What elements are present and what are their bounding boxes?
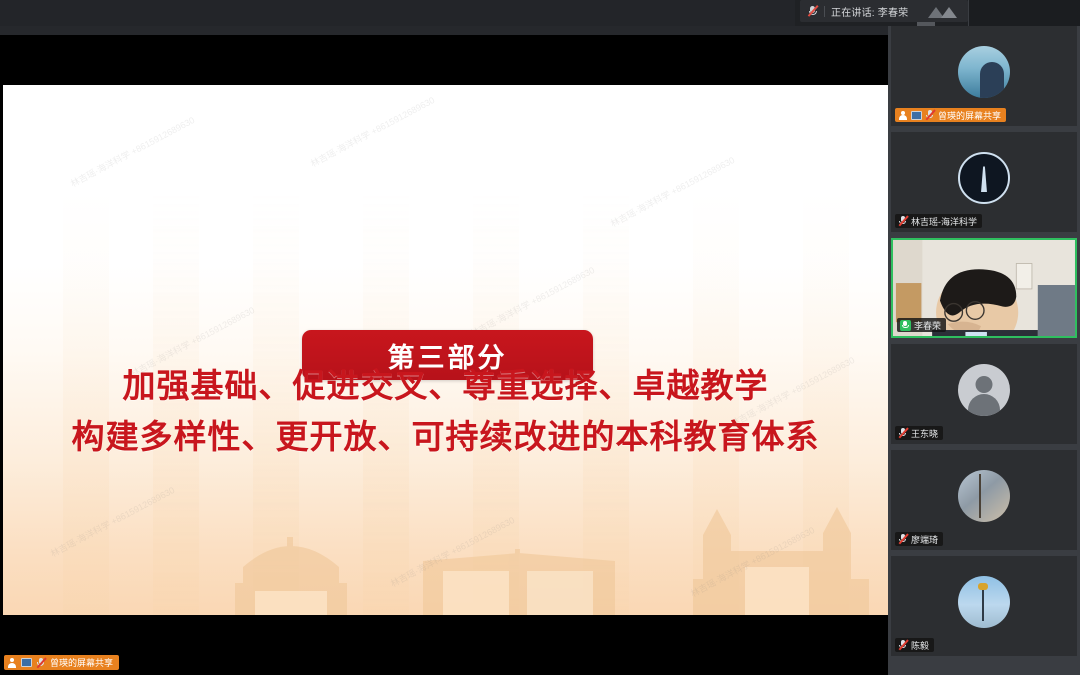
watermark-text: 林吉瑶·海洋科学 +8615912689630 [68,113,197,190]
participant-tile[interactable]: 林吉瑶-海洋科学 [891,132,1077,232]
watermark-text: 林吉瑶·海洋科学 +8615912689630 [608,153,737,230]
campus-buildings-illustration [3,475,888,615]
mic-muted-icon [36,657,46,668]
watermark-text: 林吉瑶·海洋科学 +8615912689630 [468,263,597,340]
participant-label: 李春荣 [897,318,946,332]
share-top-strip [0,26,888,35]
screen-share-icon [911,111,922,120]
participant-label: 陈毅 [895,638,934,652]
participant-name: 李春荣 [914,319,941,332]
participant-label: 廖端琦 [895,532,943,546]
meeting-window: 正在讲话: 李春荣 [0,0,1080,675]
participant-name: 陈毅 [911,639,929,652]
slide-headline: 加强基础、促进交叉、尊重选择、卓越教学 构建多样性、更开放、可持续改进的本科教育… [3,360,888,462]
participant-tile[interactable]: 廖端琦 [891,450,1077,550]
mic-muted-icon [898,640,908,651]
speaking-indicator: 正在讲话: 李春荣 [800,0,968,22]
audio-wave-icon [928,5,962,18]
participant-label: 王东晓 [895,426,943,440]
participant-tile[interactable]: 陈毅 [891,556,1077,656]
presentation-slide: 林吉瑶·海洋科学 +8615912689630 林吉瑶·海洋科学 +861591… [3,85,888,615]
share-bottom-strip: 曾瑛的屏幕共享 [0,615,888,675]
participant-name: 林吉瑶-海洋科学 [911,215,977,228]
participant-label: 曾瑛的屏幕共享 [895,108,1006,122]
top-bar-left-region [0,0,795,26]
avatar-default-person [958,364,1010,416]
avatar-university-seal [958,152,1010,204]
screen-share-area[interactable]: 林吉瑶·海洋科学 +8615912689630 林吉瑶·海洋科学 +861591… [0,26,888,675]
participant-name: 王东晓 [911,427,938,440]
avatar-streetlamp-photo [958,576,1010,628]
mic-muted-icon [898,216,908,227]
divider [824,6,825,17]
speaking-label: 正在讲话: 李春荣 [831,4,908,19]
host-icon [7,658,17,668]
watermark-text: 林吉瑶·海洋科学 +8615912689630 [308,93,437,170]
avatar-ocean-portrait [958,46,1010,98]
mic-on-icon [900,320,911,331]
headline-line-1: 加强基础、促进交叉、尊重选择、卓越教学 [3,360,888,411]
participant-name: 廖端琦 [911,533,938,546]
mic-muted-icon [898,534,908,545]
avatar-tree-photo [958,470,1010,522]
top-bar-right-region [968,0,1080,26]
participant-name: 曾瑛的屏幕共享 [938,109,1001,122]
mic-muted-icon [898,428,908,439]
participant-tile[interactable]: 曾瑛的屏幕共享 [891,26,1077,126]
share-owner-name: 曾瑛的屏幕共享 [50,656,113,669]
mic-muted-icon [807,5,818,17]
participant-tile-active-speaker[interactable]: 李春荣 [891,238,1077,338]
participant-strip[interactable]: 曾瑛的屏幕共享 林吉瑶-海洋科学 [888,26,1080,675]
headline-line-2: 构建多样性、更开放、可持续改进的本科教育体系 [3,411,888,462]
mic-muted-icon [925,110,935,121]
share-owner-label: 曾瑛的屏幕共享 [4,655,119,670]
participant-label: 林吉瑶-海洋科学 [895,214,982,228]
top-bar: 正在讲话: 李春荣 [0,0,1080,26]
host-icon [898,110,908,120]
screen-share-icon [21,658,32,667]
participant-tile[interactable]: 王东晓 [891,344,1077,444]
